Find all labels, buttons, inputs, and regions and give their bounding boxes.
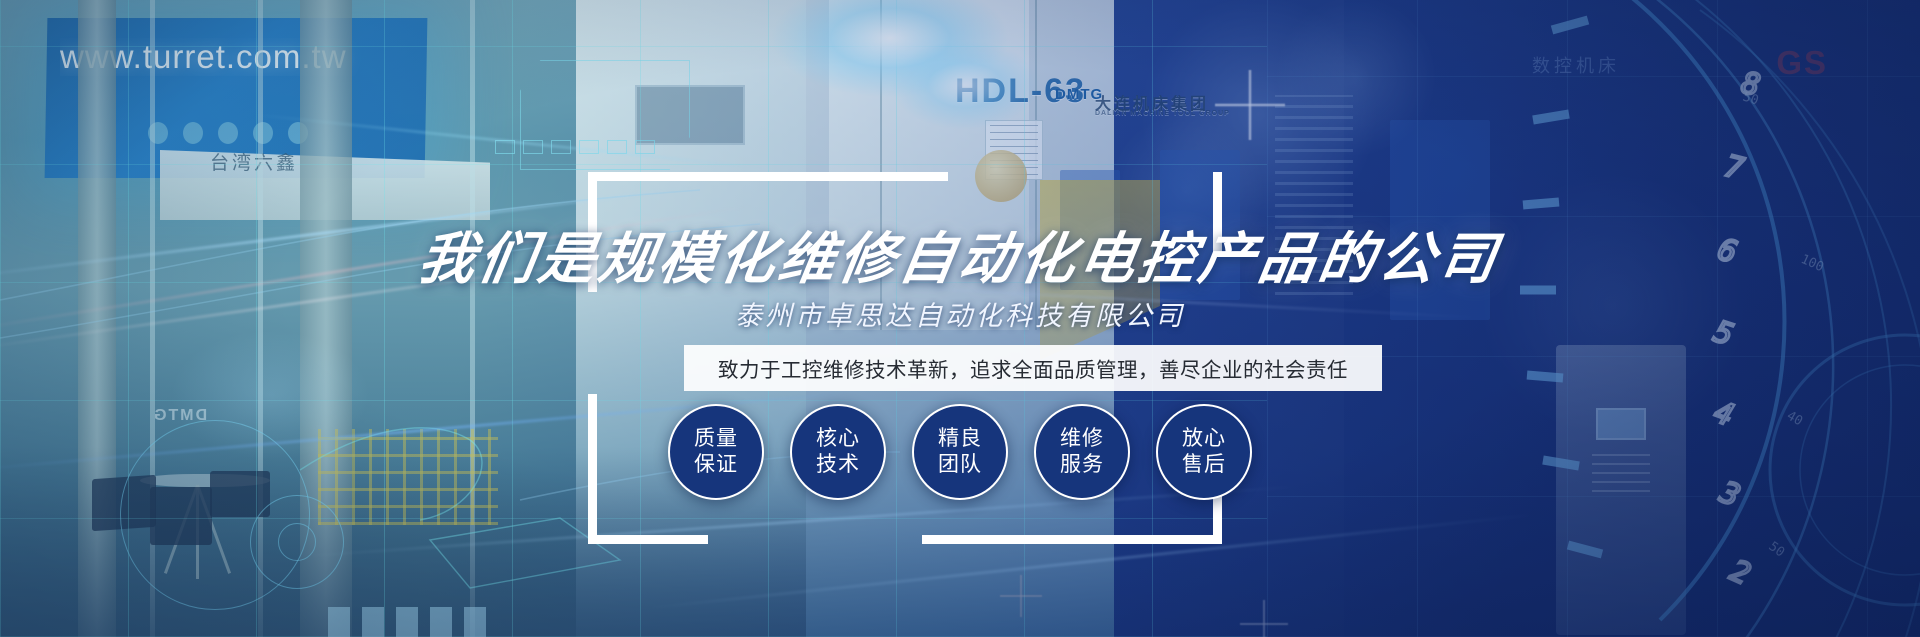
feature-badge-line1: 放心 (1182, 426, 1226, 452)
feature-badge-service[interactable]: 维修 服务 (1034, 404, 1130, 500)
feature-badge-list: 质量 保证 核心 技术 精良 团队 维修 服务 放心 售后 (0, 404, 1920, 500)
feature-badge-line2: 服务 (1060, 452, 1104, 478)
feature-badge-line1: 质量 (694, 426, 738, 452)
feature-badge-line2: 售后 (1182, 452, 1226, 478)
tagline-bar: 致力于工控维修技术革新，追求全面品质管理，善尽企业的社会责任 (684, 345, 1382, 391)
feature-badge-team[interactable]: 精良 团队 (912, 404, 1008, 500)
hero-content: 我们是规模化维修自动化电控产品的公司 泰州市卓思达自动化科技有限公司 致力于工控… (0, 0, 1920, 637)
feature-badge-technology[interactable]: 核心 技术 (790, 404, 886, 500)
feature-badge-line1: 核心 (816, 426, 860, 452)
tagline-text: 致力于工控维修技术革新，追求全面品质管理，善尽企业的社会责任 (718, 353, 1348, 383)
feature-badge-quality[interactable]: 质量 保证 (668, 404, 764, 500)
feature-badge-line1: 维修 (1060, 426, 1104, 452)
feature-badge-line2: 保证 (694, 452, 738, 478)
feature-badge-line2: 团队 (938, 452, 982, 478)
frame-corner-top-left-horizontal (588, 172, 948, 181)
feature-badge-line2: 技术 (816, 452, 860, 478)
frame-corner-bottom-right-horizontal (922, 535, 1222, 544)
feature-badge-aftersales[interactable]: 放心 售后 (1156, 404, 1252, 500)
hero-headline: 我们是规模化维修自动化电控产品的公司 (0, 214, 1920, 295)
frame-corner-bottom-left-horizontal (588, 535, 708, 544)
feature-badge-line1: 精良 (938, 426, 982, 452)
hero-banner: GS 数控机床 www.turret.com.tw 台湾六鑫 DMTG HDL-… (0, 0, 1920, 637)
company-name-subtitle: 泰州市卓思达自动化科技有限公司 (0, 294, 1920, 333)
